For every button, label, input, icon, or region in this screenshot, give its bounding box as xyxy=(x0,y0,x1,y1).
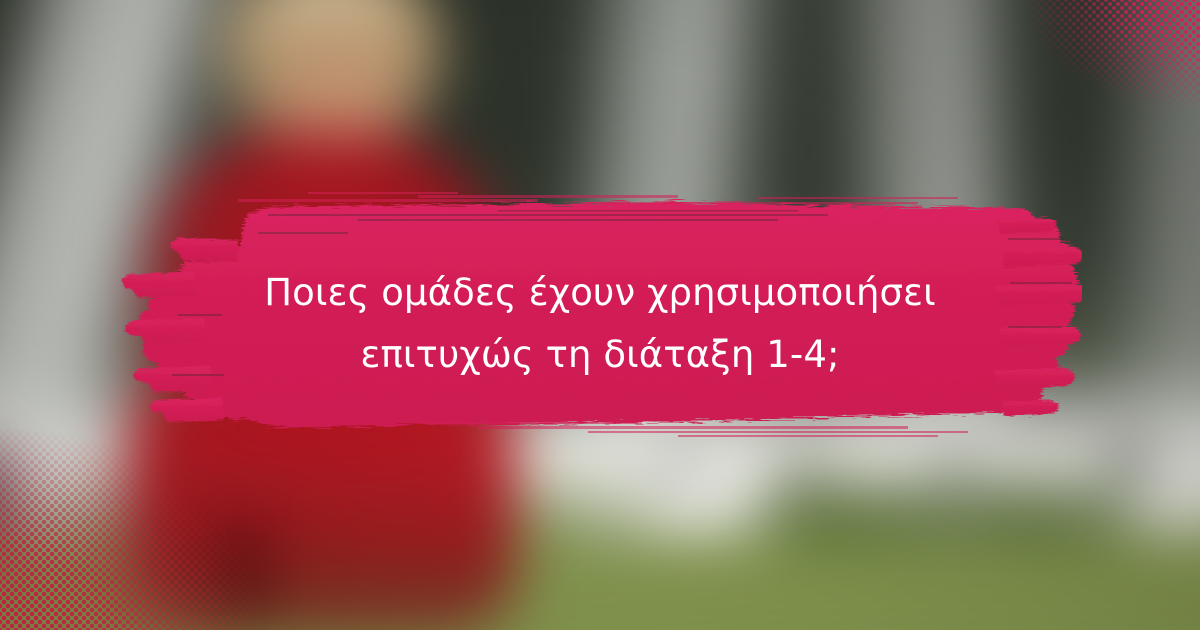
social-card: Ποιες ομάδες έχουν χρησιμοποιήσει επιτυχ… xyxy=(0,0,1200,630)
background-player-leg xyxy=(215,522,267,628)
headline-text: Ποιες ομάδες έχουν χρησιμοποιήσει επιτυχ… xyxy=(170,262,1030,386)
